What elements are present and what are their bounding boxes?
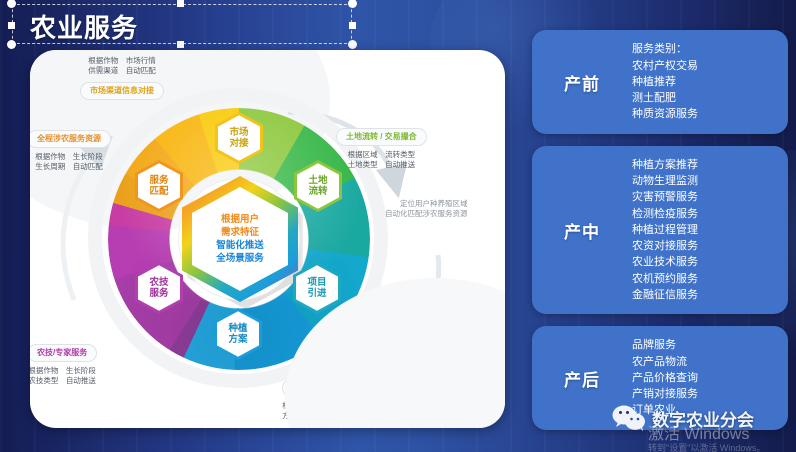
node-project-intro-label-1: 项目 [307,277,326,288]
list-item: 农村产权交易 [632,58,782,74]
windows-activation-watermark: 激活 Windows 转到"设置"以激活 Windows。 [648,426,765,452]
callout-agri-resources-line-1: 根据作物 生长阶段 [30,152,111,162]
callout-expert-service-badge: 农技/专家服务 [30,344,97,362]
callout-locate-region: 定位用户种养殖区域 自动化匹配涉农服务资源 [385,199,468,219]
callout-expert-service-line-2: 农技类型 自动推送 [30,376,97,386]
node-land-transfer-label-1: 土地 [308,175,327,186]
list-item: 种植推荐 [632,74,782,90]
windows-activation-line-2: 转到"设置"以激活 Windows。 [648,443,765,452]
list-item: 种植过程管理 [632,222,782,238]
list-item: 农资对接服务 [632,238,782,254]
node-market-docking-label-2: 对接 [229,138,248,149]
title-placeholder[interactable]: 农业服务 [12,4,352,44]
node-project-intro-face: 项目 引进 [296,265,338,311]
callout-land-transfer[interactable]: 土地流转 / 交易撮合 根据区域 流转类型 土地类型 自动推送 [336,126,427,170]
callout-land-transfer-line-2: 土地类型 自动推送 [336,160,427,170]
node-land-transfer-label-2: 流转 [308,186,327,197]
resize-handle-middle-left[interactable] [8,22,15,29]
callout-agri-resources[interactable]: 全程涉农服务资源 根据作物 生长阶段 生长周期 自动匹配 [30,128,111,172]
callout-land-transfer-badge: 土地流转 / 交易撮合 [336,128,427,146]
list-item: 产销对接服务 [632,386,782,402]
callout-agri-resources-badge: 全程涉农服务资源 [30,130,111,148]
windows-activation-line-1: 激活 Windows [648,426,765,443]
panel-post-production-title: 产后 [532,366,632,391]
panel-in-production[interactable]: 产中 种植方案推荐 动物生理监测 灾害预警服务 检测检疫服务 种植过程管理 农资… [532,146,788,314]
node-market-docking-face: 市场 对接 [218,115,260,161]
callout-expert-service-line-1: 根据作物 生长阶段 [30,366,97,376]
callout-planting-plan-badge: 种植方案选择 [282,379,350,397]
callout-market-channel-line-1: 根据作物 市场行情 [80,56,164,66]
diagram-card[interactable]: 根据用户 需求特征 智能化推送 全场景服务 市场 对接 土地 流转 项目 引进 … [30,50,505,428]
callout-market-channel-badge: 市场渠道信息对接 [80,82,164,100]
list-item: 农产品物流 [632,354,782,370]
list-item: 品牌服务 [632,337,782,353]
callout-agri-resources-line-2: 生长周期 自动匹配 [30,162,111,172]
resize-handle-bottom-left[interactable] [7,40,16,49]
callout-market-channel-line-2: 供需渠道 自动匹配 [80,66,164,76]
callout-planting-plan-line-1: 根据季节 作物类型 [282,401,350,411]
center-hexagon[interactable]: 根据用户 需求特征 智能化推送 全场景服务 [182,176,298,302]
callout-project-recommend-line-1: 根据区域 产业结构 [340,305,416,315]
node-service-matching-label-2: 匹配 [149,186,168,197]
panel-in-production-list: 种植方案推荐 动物生理监测 灾害预警服务 检测检疫服务 种植过程管理 农资对接服… [632,157,788,303]
callout-locate-region-line-2: 自动化匹配涉农服务资源 [385,209,468,219]
callout-project-recommend-badge: 种养殖项目引荐 [340,331,416,349]
resize-handle-bottom-right[interactable] [348,40,357,49]
panel-pre-production[interactable]: 产前 服务类别： 农村产权交易 种植推荐 测土配肥 种质资源服务 [532,30,788,134]
node-market-docking-label-1: 市场 [229,127,248,138]
resize-handle-top-center[interactable] [177,0,184,7]
list-item: 测土配肥 [632,90,782,106]
callout-project-recommend-line-2: 关注取向 自动推送 [340,315,416,325]
list-item: 种质资源服务 [632,106,782,122]
panel-pre-production-title: 产前 [532,70,632,95]
resize-handle-middle-right[interactable] [349,22,356,29]
list-item: 金融征信服务 [632,287,782,303]
center-hex-line-3: 智能化推送 [216,240,264,252]
callout-expert-service[interactable]: 农技/专家服务 根据作物 生长阶段 农技类型 自动推送 [30,342,97,386]
callout-planting-plan-line-2: 方案类型 自动推送 [282,411,350,421]
node-service-matching-face: 服务 匹配 [138,163,180,209]
center-hex-line-1: 根据用户 [221,214,259,226]
node-agritech-service-face: 农技 服务 [138,265,180,311]
panel-pre-production-list: 服务类别： 农村产权交易 种植推荐 测土配肥 种质资源服务 [632,41,788,122]
list-item: 产品价格查询 [632,370,782,386]
callout-planting-plan[interactable]: 种植方案选择 根据季节 作物类型 方案类型 自动推送 [282,377,350,421]
node-planting-plan-label-1: 种植 [228,323,247,334]
node-service-matching-label-1: 服务 [149,175,168,186]
node-land-transfer-face: 土地 流转 [297,163,339,209]
list-item: 农业技术服务 [632,254,782,270]
center-hex-line-2: 需求特征 [221,227,259,239]
list-item: 检测检疫服务 [632,206,782,222]
list-item: 动物生理监测 [632,173,782,189]
callout-market-channel[interactable]: 根据作物 市场行情 供需渠道 自动匹配 市场渠道信息对接 [80,56,164,100]
callout-land-transfer-line-1: 根据区域 流转类型 [336,150,427,160]
node-planting-plan-face: 种植 方案 [217,311,259,357]
list-item: 服务类别： [632,41,782,57]
list-item: 农机预约服务 [632,271,782,287]
node-agritech-service-label-2: 服务 [149,288,168,299]
callout-project-recommend[interactable]: 根据区域 产业结构 关注取向 自动推送 种养殖项目引荐 [340,305,416,349]
list-item: 灾害预警服务 [632,189,782,205]
node-project-intro-label-2: 引进 [307,288,326,299]
center-hex-line-4: 全场景服务 [216,253,264,265]
resize-handle-bottom-center[interactable] [177,41,184,48]
list-item: 种植方案推荐 [632,157,782,173]
panel-in-production-title: 产中 [532,218,632,243]
page-title: 农业服务 [30,8,138,45]
wechat-icon [612,404,646,432]
node-agritech-service-label-1: 农技 [149,277,168,288]
node-planting-plan-label-2: 方案 [228,334,247,345]
callout-locate-region-line-1: 定位用户种养殖区域 [385,199,468,209]
